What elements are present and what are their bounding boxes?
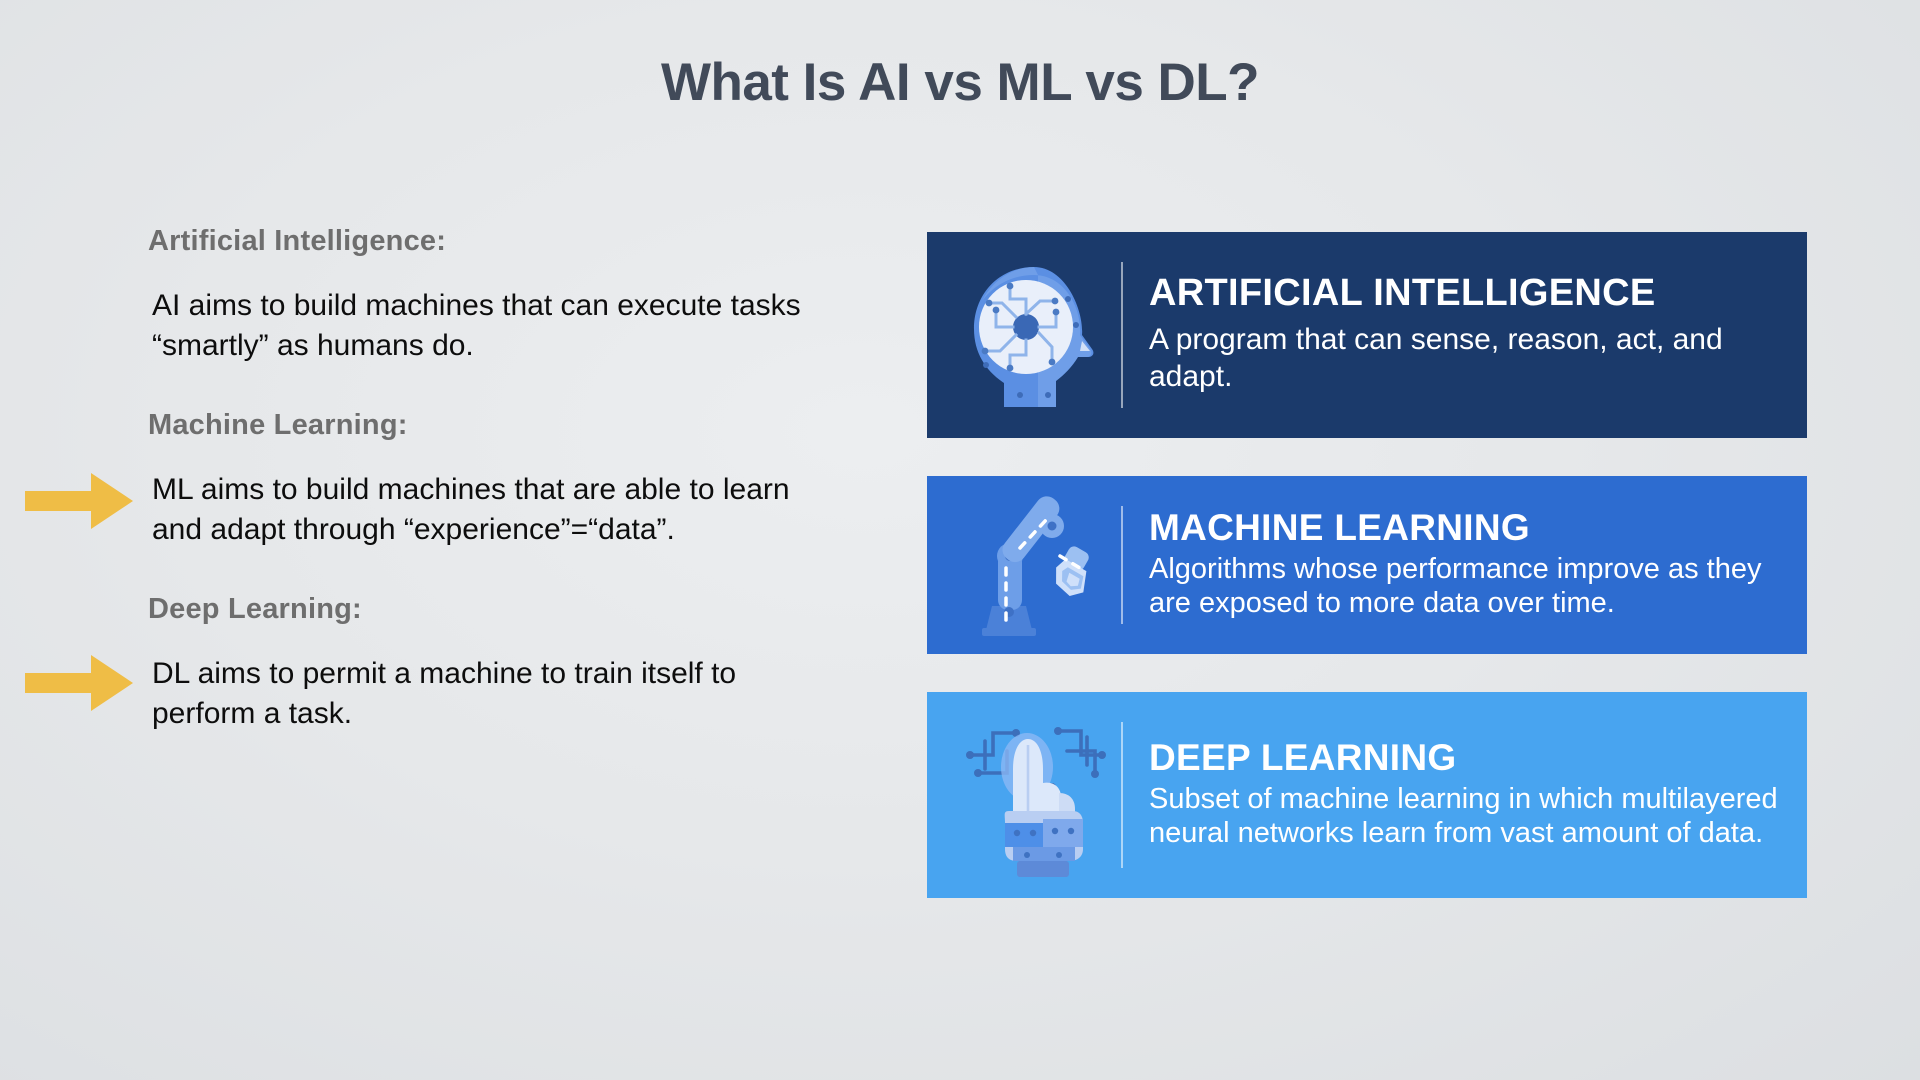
card-text-ai: ARTIFICIAL INTELLIGENCE A program that c…: [1123, 274, 1781, 395]
card-description-ai: A program that can sense, reason, act, a…: [1149, 322, 1781, 395]
block-body-ai: AI aims to build machines that can execu…: [152, 286, 842, 365]
card-text-dl: DEEP LEARNING Subset of machine learning…: [1123, 739, 1781, 851]
card-title-ml: MACHINE LEARNING: [1149, 509, 1781, 548]
text-block-artificial-intelligence: Artificial Intelligence: AI aims to buil…: [0, 225, 880, 365]
text-block-machine-learning: Machine Learning: ML aims to build machi…: [0, 409, 880, 549]
block-heading-ai: Artificial Intelligence:: [148, 225, 880, 258]
card-title-ai: ARTIFICIAL INTELLIGENCE: [1149, 274, 1781, 314]
block-body-ml: ML aims to build machines that are able …: [152, 470, 842, 549]
left-text-column: Artificial Intelligence: AI aims to buil…: [0, 225, 880, 778]
block-heading-dl: Deep Learning:: [148, 593, 880, 626]
block-heading-ml: Machine Learning:: [148, 409, 880, 442]
slide-canvas: What Is AI vs ML vs DL? Artificial Intel…: [0, 0, 1920, 1080]
card-machine-learning[interactable]: MACHINE LEARNING Algorithms whose perfor…: [927, 476, 1807, 654]
card-description-ml: Algorithms whose performance improve as …: [1149, 552, 1781, 622]
right-arrow-icon: [25, 473, 133, 529]
robotic-arm-icon: [949, 476, 1121, 654]
block-body-dl: DL aims to permit a machine to train its…: [152, 654, 842, 733]
card-deep-learning[interactable]: DEEP LEARNING Subset of machine learning…: [927, 692, 1807, 898]
concept-cards-column: ARTIFICIAL INTELLIGENCE A program that c…: [927, 232, 1807, 898]
card-artificial-intelligence[interactable]: ARTIFICIAL INTELLIGENCE A program that c…: [927, 232, 1807, 438]
text-block-deep-learning: Deep Learning: DL aims to permit a machi…: [0, 593, 880, 733]
card-description-dl: Subset of machine learning in which mult…: [1149, 782, 1781, 852]
card-title-dl: DEEP LEARNING: [1149, 739, 1781, 778]
card-text-ml: MACHINE LEARNING Algorithms whose perfor…: [1123, 509, 1781, 621]
robot-hand-circuit-icon: [949, 692, 1121, 898]
head-circuit-brain-icon: [949, 232, 1121, 438]
right-arrow-icon: [25, 655, 133, 711]
page-title: What Is AI vs ML vs DL?: [0, 52, 1920, 113]
